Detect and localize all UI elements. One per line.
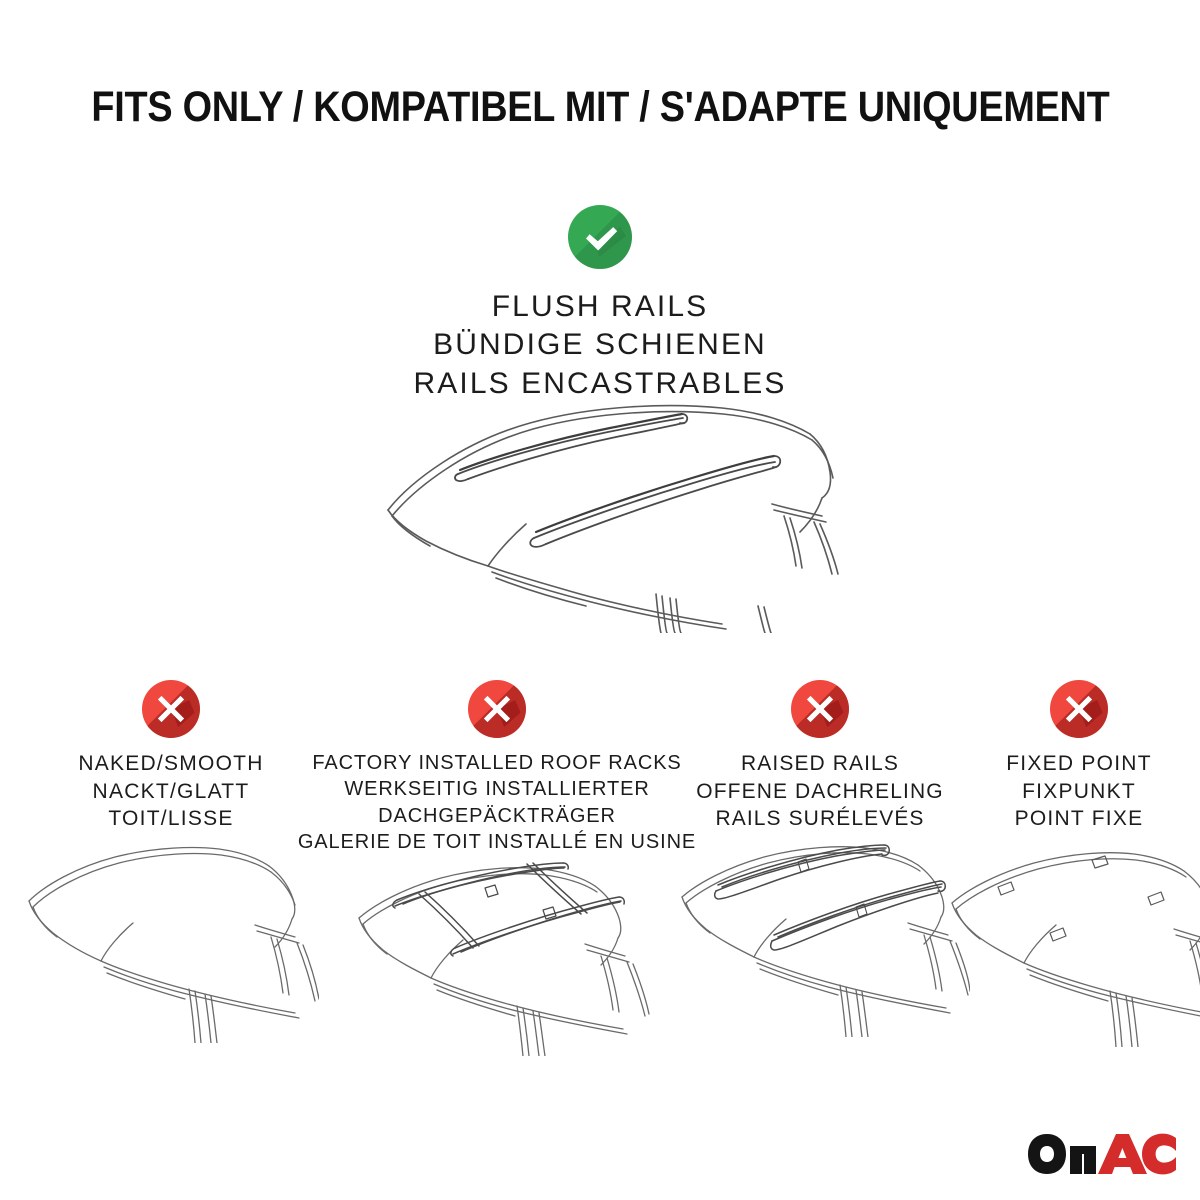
incompatible-item-fixed-point: FIXED POINT FIXPUNKT POINT FIXE <box>964 680 1194 1047</box>
incompatible-caption: FACTORY INSTALLED ROOF RACKS WERKSEITIG … <box>298 750 696 856</box>
incompatible-item-raised-rails: RAISED RAILS OFFENE DACHRELING RAILS SUR… <box>680 680 960 1037</box>
caption-line-fr: POINT FIXE <box>1006 805 1152 833</box>
car-roof-flush-rails-illustration <box>370 398 840 633</box>
compatible-caption: FLUSH RAILS BÜNDIGE SCHIENEN RAILS ENCAS… <box>0 288 1200 403</box>
caption-line-en: RAISED RAILS <box>696 750 943 778</box>
caption-line-fr: TOIT/LISSE <box>78 805 263 833</box>
incompatible-item-factory-racks: FACTORY INSTALLED ROOF RACKS WERKSEITIG … <box>322 680 672 1056</box>
incompatible-item-naked-smooth: NAKED/SMOOTH NACKT/GLATT TOIT/LISSE <box>16 680 326 1043</box>
x-circle-icon <box>791 680 849 738</box>
caption-line-de: NACKT/GLATT <box>78 778 263 806</box>
caption-line-fr: GALERIE DE TOIT INSTALLÉ EN USINE <box>298 829 696 855</box>
page-title: FITS ONLY / KOMPATIBEL MIT / S'ADAPTE UN… <box>0 84 1200 131</box>
compatible-label-en: FLUSH RAILS <box>0 288 1200 326</box>
caption-line-de: FIXPUNKT <box>1006 778 1152 806</box>
car-roof-raised-rails-illustration <box>670 837 970 1037</box>
check-circle-icon <box>568 205 632 269</box>
x-circle-icon <box>142 680 200 738</box>
car-roof-fixed-point-illustration <box>942 847 1200 1047</box>
caption-line-fr: RAILS SURÉLEVÉS <box>696 805 943 833</box>
page-title-text: FITS ONLY / KOMPATIBEL MIT / S'ADAPTE UN… <box>91 84 1109 131</box>
car-roof-factory-racks-illustration <box>345 856 650 1056</box>
incompatible-caption: FIXED POINT FIXPUNKT POINT FIXE <box>1006 750 1152 833</box>
caption-line-en: NAKED/SMOOTH <box>78 750 263 778</box>
car-roof-naked-smooth-illustration <box>19 843 319 1043</box>
x-circle-icon <box>468 680 526 738</box>
infographic-page: FITS ONLY / KOMPATIBEL MIT / S'ADAPTE UN… <box>0 0 1200 1200</box>
compatible-section: FLUSH RAILS BÜNDIGE SCHIENEN RAILS ENCAS… <box>0 205 1200 403</box>
incompatible-section: NAKED/SMOOTH NACKT/GLATT TOIT/LISSE <box>0 680 1200 1080</box>
omac-logo: OMAC <box>1026 1132 1178 1176</box>
caption-line-en: FIXED POINT <box>1006 750 1152 778</box>
caption-line-en: FACTORY INSTALLED ROOF RACKS <box>298 750 696 776</box>
incompatible-caption: NAKED/SMOOTH NACKT/GLATT TOIT/LISSE <box>78 750 263 833</box>
incompatible-caption: RAISED RAILS OFFENE DACHRELING RAILS SUR… <box>696 750 943 833</box>
caption-line-de-1: WERKSEITIG INSTALLIERTER <box>298 776 696 802</box>
compatible-label-de: BÜNDIGE SCHIENEN <box>0 326 1200 364</box>
caption-line-de: OFFENE DACHRELING <box>696 778 943 806</box>
x-circle-icon <box>1050 680 1108 738</box>
caption-line-de-2: DACHGEPÄCKTRÄGER <box>298 803 696 829</box>
